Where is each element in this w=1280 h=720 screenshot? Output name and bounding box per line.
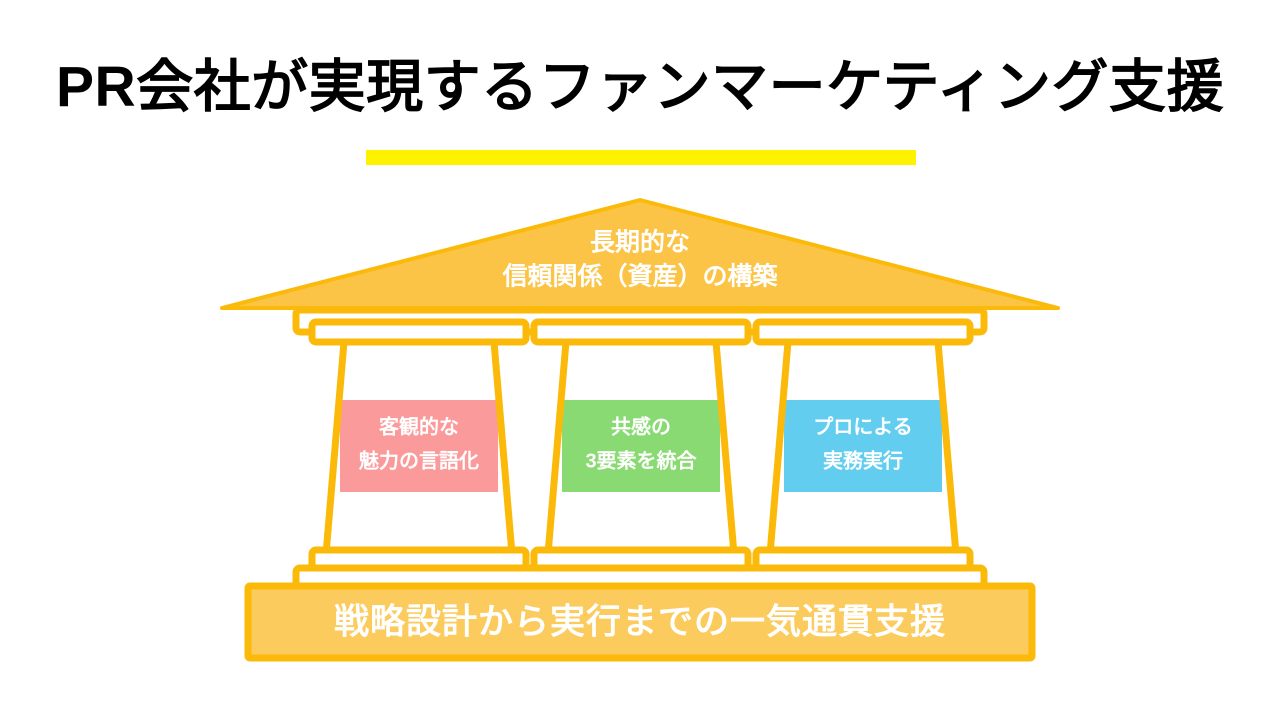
slide-canvas: PR会社が実現するファンマーケティング支援 長期的な 信頼関係（資産）の構築 客… xyxy=(0,0,1280,720)
pillar-2: 共感の 3要素を統合 xyxy=(548,342,734,554)
pillar-3-label-line2: 実務実行 xyxy=(823,448,903,472)
foundation-group: 戦略設計から実行までの一気通貫支援 xyxy=(248,586,1032,658)
pillar-1-label-line2: 魅力の言語化 xyxy=(358,448,479,472)
pillar-2-label-line1: 共感の xyxy=(611,414,671,438)
pillar-2-band xyxy=(562,400,720,492)
pillar-3: プロによる 実務実行 xyxy=(770,342,956,554)
pillar-1: 客観的な 魅力の言語化 xyxy=(326,342,512,554)
foundation-label: 戦略設計から実行までの一気通貫支援 xyxy=(334,602,946,641)
pillar-2-label-line2: 3要素を統合 xyxy=(585,448,697,472)
pillar-1-label-line1: 客観的な xyxy=(379,414,459,438)
pediment-label-line2: 信頼関係（資産）の構築 xyxy=(501,262,778,291)
temple-diagram: 長期的な 信頼関係（資産）の構築 客観的な 魅力の言語化 共感の 3要素を統合 xyxy=(0,0,1280,720)
pillar-3-label-line1: プロによる xyxy=(813,415,912,438)
pillar-1-band xyxy=(340,400,498,492)
pediment-label-line1: 長期的な xyxy=(590,228,690,257)
pillar-3-band xyxy=(784,400,942,492)
pediment-group: 長期的な 信頼関係（資産）の構築 xyxy=(222,200,1058,308)
